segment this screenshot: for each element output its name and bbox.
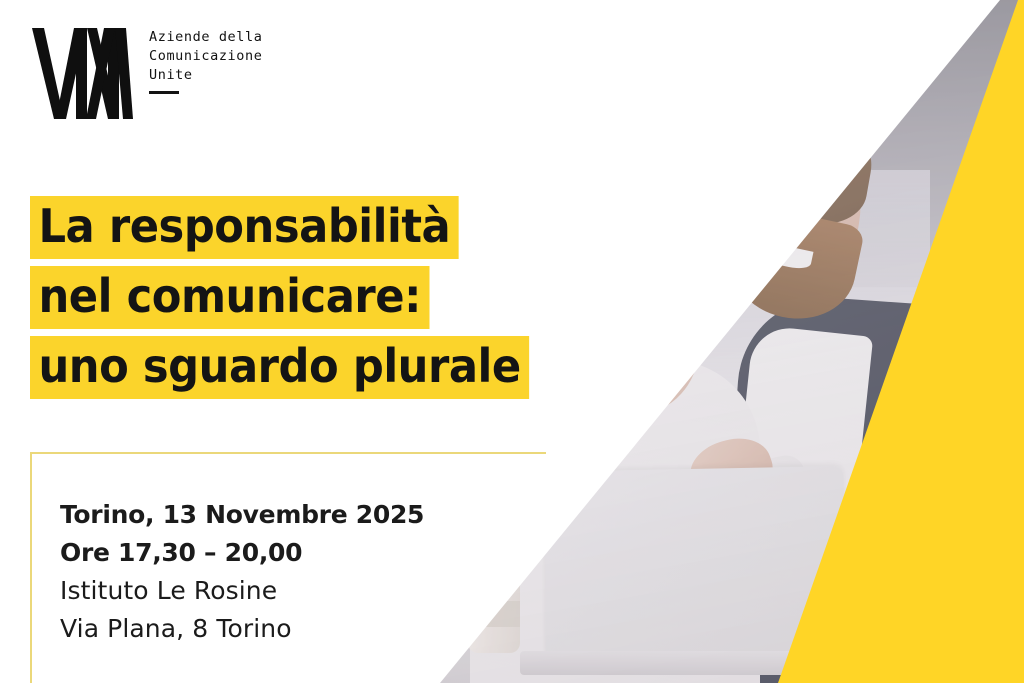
logo-tagline-line-3-wrap: Unite <box>149 66 193 94</box>
title-line-2: nel comunicare: <box>30 266 429 329</box>
page-title: La responsabilità nel comunicare: uno sg… <box>30 196 561 399</box>
logo-tagline-line-3: Unite <box>149 67 193 83</box>
event-details-box: Torino, 13 Novembre 2025 Ore 17,30 – 20,… <box>30 452 546 683</box>
vna-logo: Aziende della Comunicazione Unite <box>30 22 262 125</box>
title-line-3: uno sguardo plurale <box>30 336 529 399</box>
vna-monogram-icon <box>30 22 135 125</box>
event-address: Via Plana, 8 Torino <box>60 610 424 648</box>
title-line-1: La responsabilità <box>30 196 459 259</box>
logo-tagline: Aziende della Comunicazione Unite <box>149 22 262 94</box>
event-poster: Aziende della Comunicazione Unite La res… <box>0 0 1024 683</box>
event-details-text: Torino, 13 Novembre 2025 Ore 17,30 – 20,… <box>60 496 424 648</box>
logo-tagline-line-1: Aziende della <box>149 28 262 47</box>
event-venue: Istituto Le Rosine <box>60 572 424 610</box>
event-time: Ore 17,30 – 20,00 <box>60 534 424 572</box>
logo-tagline-line-2: Comunicazione <box>149 47 262 66</box>
event-date: Torino, 13 Novembre 2025 <box>60 496 424 534</box>
logo-underline-rule <box>149 91 179 94</box>
